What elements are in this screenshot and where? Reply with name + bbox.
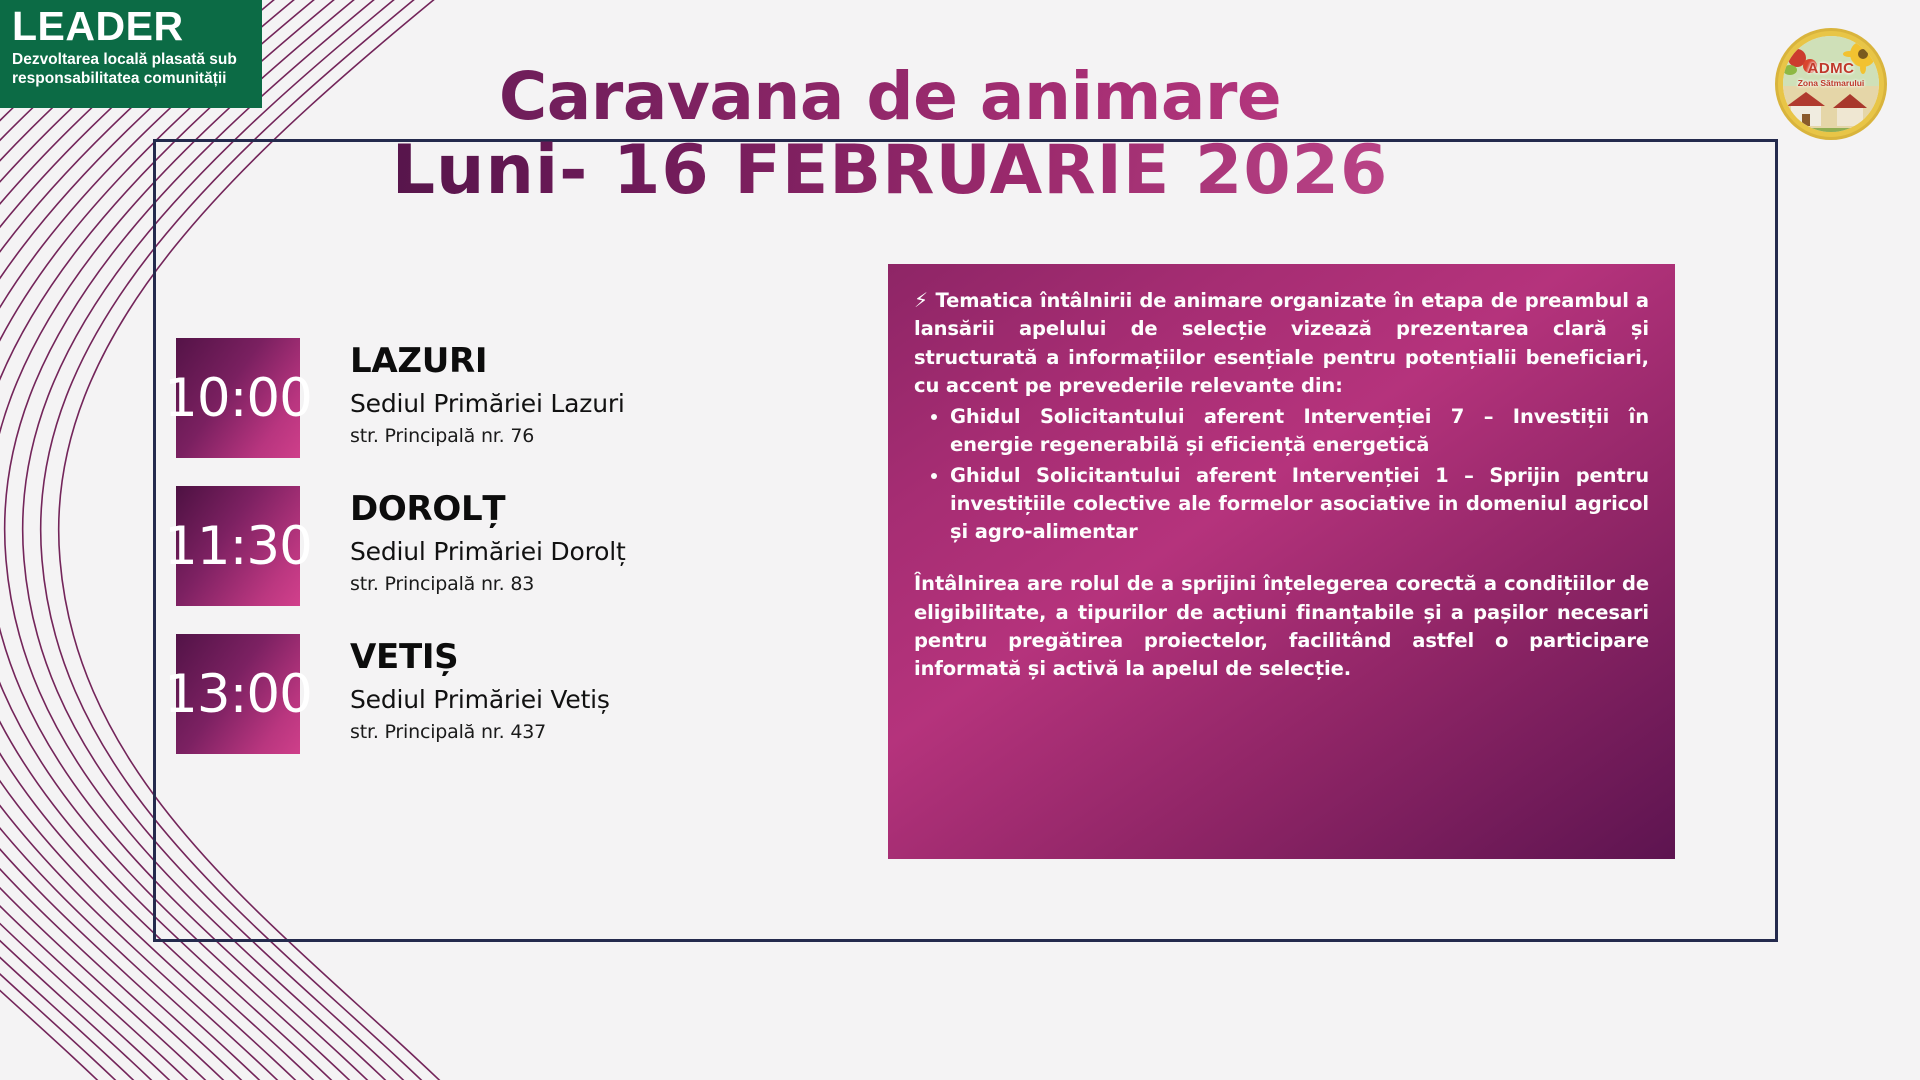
schedule-time-chip: 10:00	[176, 338, 300, 458]
list-item: Ghidul Solicitantului aferent Intervenți…	[950, 462, 1649, 547]
panel-bullet-list: Ghidul Solicitantului aferent Intervenți…	[914, 403, 1649, 546]
schedule-time: 13:00	[164, 668, 312, 721]
schedule-time-chip: 11:30	[176, 486, 300, 606]
title-line-date: Luni- 16 FEBRUARIE 2026	[300, 135, 1480, 206]
leader-logo-subtitle: Dezvoltarea locală plasată sub responsab…	[12, 50, 252, 89]
schedule-location-name: DOROLȚ	[350, 492, 626, 528]
poster-canvas: LEADER Dezvoltarea locală plasată sub re…	[0, 0, 1920, 1080]
schedule-item: 13:00 VETIȘ Sediul Primăriei Vetiș str. …	[176, 634, 816, 754]
panel-closing-paragraph: Întâlnirea are rolul de a sprijini înțel…	[914, 570, 1649, 683]
schedule-time: 10:00	[164, 372, 312, 425]
schedule-venue: Sediul Primăriei Dorolț	[350, 536, 626, 567]
schedule-item: 10:00 LAZURI Sediul Primăriei Lazuri str…	[176, 338, 816, 458]
admc-logo-name: ADMC	[1778, 61, 1884, 76]
schedule-location-name: LAZURI	[350, 344, 625, 380]
schedule-details: DOROLȚ Sediul Primăriei Dorolț str. Prin…	[350, 486, 626, 597]
schedule-location-name: VETIȘ	[350, 640, 610, 676]
schedule-street: str. Principală nr. 437	[350, 721, 610, 745]
schedule-item: 11:30 DOROLȚ Sediul Primăriei Dorolț str…	[176, 486, 816, 606]
description-panel: ⚡ Tematica întâlnirii de animare organiz…	[888, 264, 1675, 859]
schedule-details: VETIȘ Sediul Primăriei Vetiș str. Princi…	[350, 634, 610, 745]
schedule-time: 11:30	[164, 520, 312, 573]
admc-logo-text: ADMC Zona Sătmarului	[1778, 61, 1884, 89]
schedule-street: str. Principală nr. 76	[350, 425, 625, 449]
panel-intro-paragraph: ⚡ Tematica întâlnirii de animare organiz…	[914, 286, 1649, 400]
schedule-details: LAZURI Sediul Primăriei Lazuri str. Prin…	[350, 338, 625, 449]
panel-intro-text: Tematica întâlnirii de animare organizat…	[914, 289, 1649, 397]
schedule-street: str. Principală nr. 83	[350, 573, 626, 597]
leader-logo: LEADER Dezvoltarea locală plasată sub re…	[0, 0, 262, 108]
list-item: Ghidul Solicitantului aferent Intervenți…	[950, 403, 1649, 460]
schedule-time-chip: 13:00	[176, 634, 300, 754]
leader-logo-title: LEADER	[12, 6, 252, 47]
schedule-venue: Sediul Primăriei Lazuri	[350, 388, 625, 419]
schedule-list: 10:00 LAZURI Sediul Primăriei Lazuri str…	[176, 338, 816, 754]
lightning-bolt-icon: ⚡	[914, 288, 928, 312]
schedule-venue: Sediul Primăriei Vetiș	[350, 684, 610, 715]
title-line-main: Caravana de animare	[300, 62, 1480, 131]
admc-logo-badge: ADMC Zona Sătmarului	[1775, 28, 1887, 140]
page-title: Caravana de animare Luni- 16 FEBRUARIE 2…	[300, 62, 1480, 207]
admc-logo-zone: Zona Sătmarului	[1778, 79, 1884, 89]
